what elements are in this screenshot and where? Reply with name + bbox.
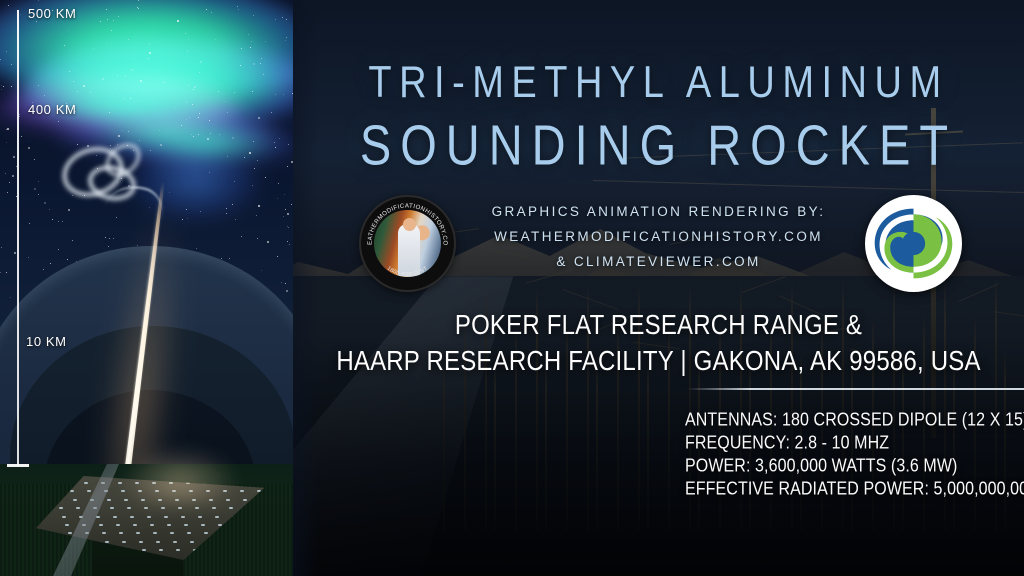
specs-list: ANTENNAS: 180 CROSSED DIPOLE (12 X 15), … — [685, 409, 1024, 501]
location-line-2: HAARP RESEARCH FACILITY | GAKONA, AK 995… — [293, 341, 1024, 383]
altitude-label-400km: 400 KM — [28, 102, 76, 117]
page-title-line-1: TRI-METHYL ALUMINUM — [293, 61, 1024, 106]
slide-root: 500 KM 400 KM 10 KM TRI-METHYL ALUMINUM … — [0, 0, 1024, 576]
info-panel: TRI-METHYL ALUMINUM SOUNDING ROCKET — [293, 0, 1024, 576]
altitude-scale-line — [17, 10, 19, 466]
spec-effective-radiated-power: EFFECTIVE RADIATED POWER: 5,000,000,000 … — [685, 476, 1024, 502]
title-block: TRI-METHYL ALUMINUM SOUNDING ROCKET — [293, 64, 1024, 168]
page-title-line-2: SOUNDING ROCKET — [293, 116, 1024, 172]
section-divider — [687, 388, 1024, 390]
altitude-label-500km: 500 KM — [28, 6, 76, 21]
climateviewer-eye-logo[interactable] — [865, 195, 962, 292]
rocket-scene-panel: 500 KM 400 KM 10 KM — [0, 0, 293, 576]
credits-row: WEATHERMODIFICATIONHISTORY.COM 1800-PRES… — [293, 193, 1024, 289]
location-block: POKER FLAT RESEARCH RANGE & HAARP RESEAR… — [293, 308, 1024, 380]
eye-pupil — [902, 232, 925, 255]
panel-seam — [293, 0, 319, 576]
altitude-scale-base-tick — [7, 464, 29, 467]
info-content: TRI-METHYL ALUMINUM SOUNDING ROCKET — [293, 0, 1024, 576]
altitude-label-10km: 10 KM — [26, 334, 67, 349]
launch-ground-glow — [120, 446, 240, 506]
